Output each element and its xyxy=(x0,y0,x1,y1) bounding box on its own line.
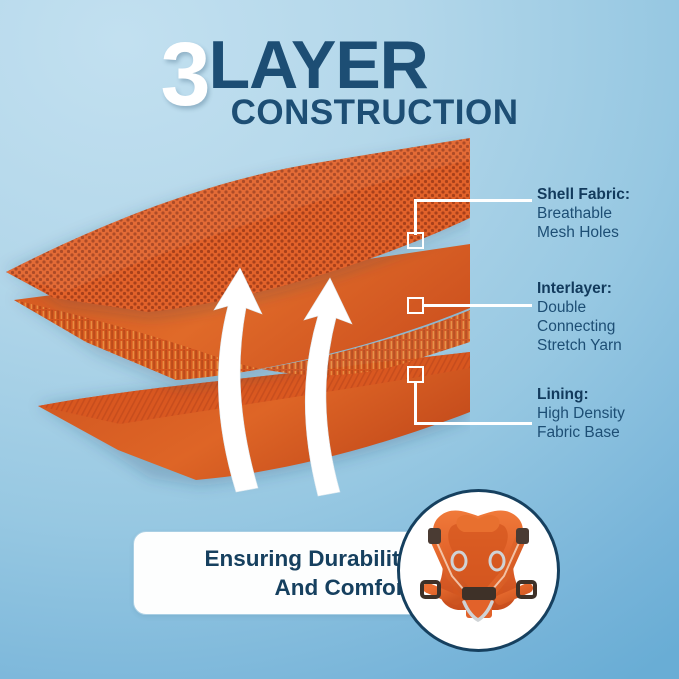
callout-line: Stretch Yarn xyxy=(537,337,622,356)
tagline-banner: Ensuring Durability And Comfort xyxy=(133,531,433,615)
tagline-text: Ensuring Durability And Comfort xyxy=(204,544,412,603)
harness-adjuster-right xyxy=(516,528,529,544)
callout-line: Fabric Base xyxy=(537,424,625,443)
connector-line xyxy=(422,304,532,307)
title-number: 3 xyxy=(161,34,207,117)
callout-interlayer: Interlayer: Double Connecting Stretch Ya… xyxy=(537,280,622,356)
connector-line xyxy=(414,422,532,425)
callout-shell-fabric: Shell Fabric: Breathable Mesh Holes xyxy=(537,186,630,243)
callout-line: High Density xyxy=(537,405,625,424)
tagline-line-1: Ensuring Durability xyxy=(204,544,412,573)
harness-adjuster-left xyxy=(428,528,441,544)
tagline-line-2: And Comfort xyxy=(204,573,412,602)
connector-line xyxy=(414,381,417,424)
page-title: 3 LAYER CONSTRUCTION xyxy=(0,34,679,130)
callout-heading: Shell Fabric: xyxy=(537,186,630,205)
harness-buckle xyxy=(462,587,496,600)
layer-illustration xyxy=(0,120,470,500)
callout-line: Mesh Holes xyxy=(537,224,630,243)
callout-line: Connecting xyxy=(537,318,622,337)
connector-line xyxy=(414,199,417,235)
callout-line: Breathable xyxy=(537,205,630,224)
callout-heading: Interlayer: xyxy=(537,280,622,299)
product-photo-circle xyxy=(397,489,560,652)
callout-heading: Lining: xyxy=(537,386,625,405)
dog-harness-icon xyxy=(400,492,557,649)
callout-lining: Lining: High Density Fabric Base xyxy=(537,386,625,443)
title-word-layer: LAYER xyxy=(209,34,428,97)
connector-line xyxy=(414,199,532,202)
infographic-canvas: 3 LAYER CONSTRUCTION xyxy=(0,0,679,679)
callout-line: Double xyxy=(537,299,622,318)
